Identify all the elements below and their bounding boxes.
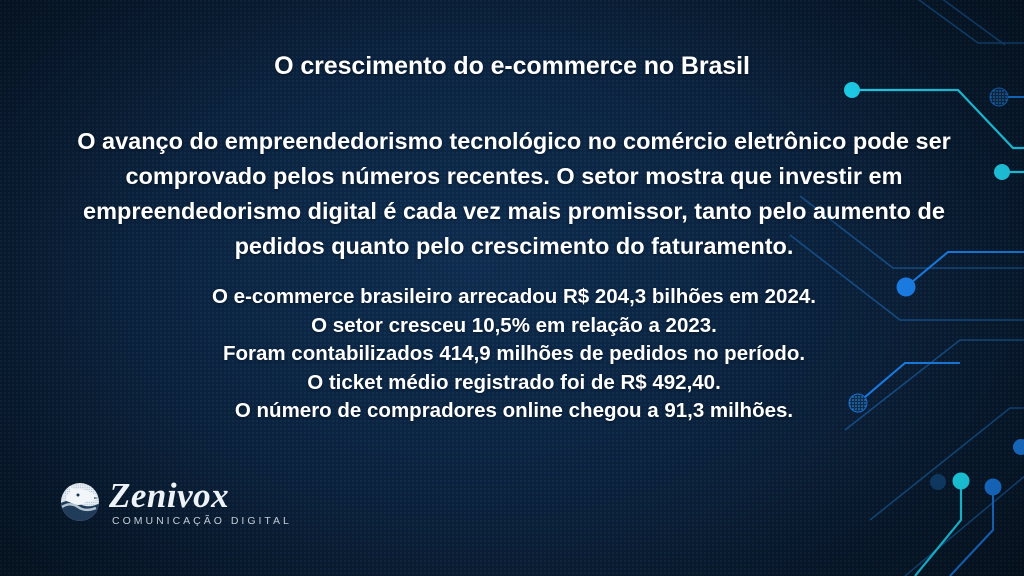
- slide-title: O crescimento do e-commerce no Brasil: [0, 52, 1024, 81]
- logo-wordmark: Zenivox: [109, 478, 292, 513]
- brand-logo: Zenivox COMUNICAÇÃO DIGITAL: [58, 478, 292, 527]
- statistics-list: O e-commerce brasileiro arrecadou R$ 204…: [62, 283, 966, 426]
- statistic-line: O setor cresceu 10,5% em relação a 2023.: [62, 312, 966, 341]
- statistic-line: O ticket médio registrado foi de R$ 492,…: [62, 369, 966, 398]
- statistic-line: O e-commerce brasileiro arrecadou R$ 204…: [62, 283, 966, 312]
- logo-tagline: COMUNICAÇÃO DIGITAL: [112, 516, 292, 527]
- statistic-line: O número de compradores online chegou a …: [62, 397, 966, 426]
- slide-lede-paragraph: O avanço do empreendedorismo tecnológico…: [72, 124, 956, 264]
- wolf-head-circle-icon: [58, 480, 102, 524]
- statistic-line: Foram contabilizados 414,9 milhões de pe…: [62, 340, 966, 369]
- presentation-slide: O crescimento do e-commerce no Brasil O …: [0, 0, 1024, 576]
